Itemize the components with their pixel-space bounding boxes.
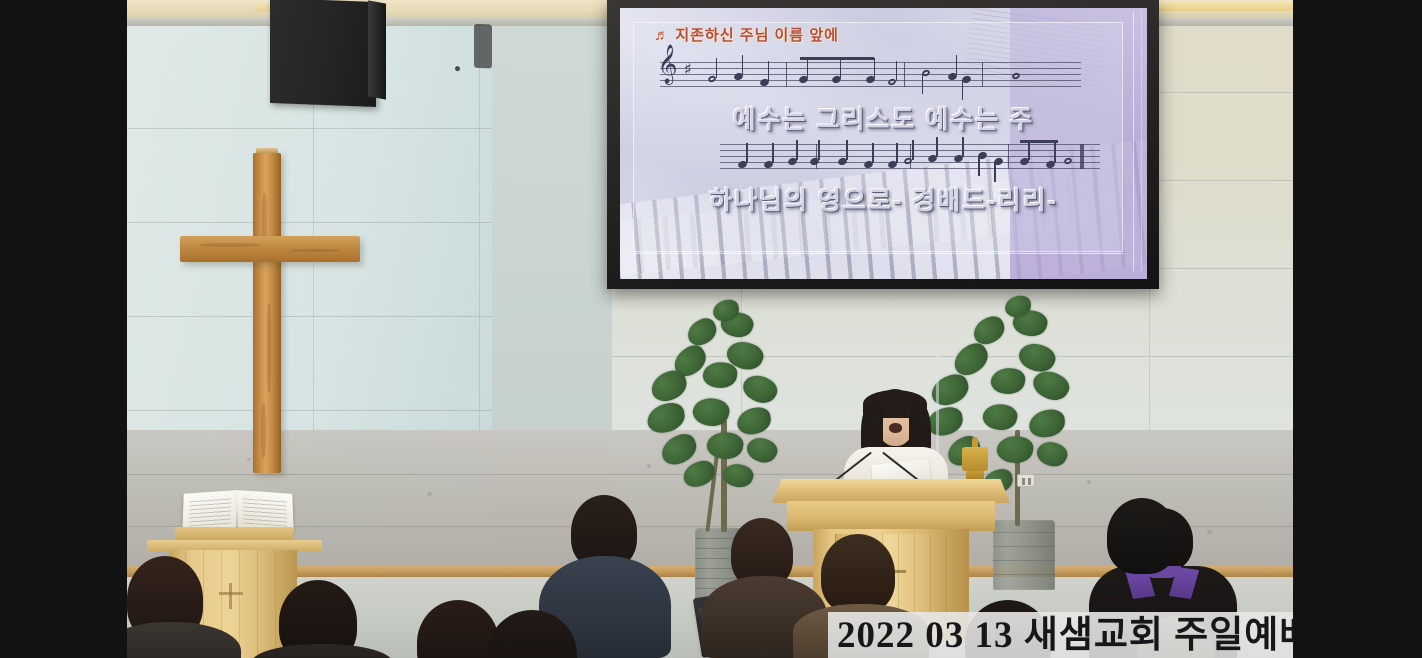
slide-rule-vertical — [1141, 11, 1142, 271]
presenter-mouth — [889, 423, 902, 433]
letterbox-left — [0, 0, 127, 658]
speaker-logo — [455, 66, 460, 71]
ceiling-speaker — [270, 0, 376, 107]
microphone-head-right — [919, 420, 927, 426]
letterbox-right — [1293, 0, 1422, 658]
congregant-head — [821, 534, 895, 614]
projection-screen[interactable]: ♬ 지존하신 주님 이름 앞에 𝄞 ♯ — [607, 0, 1159, 289]
pulpit-top — [772, 479, 1010, 503]
lamp-shade — [962, 447, 988, 471]
slide-song-title: ♬ 지존하신 주님 이름 앞에 — [654, 24, 839, 45]
congregant-head — [1107, 498, 1177, 574]
open-bible-left-page — [182, 490, 237, 532]
grout-line — [612, 356, 1293, 357]
lectern-ledge — [175, 527, 293, 541]
slide-rule — [633, 253, 1123, 254]
broadcast-caption: 2022 03 13 새샘교회 주일예배 — [828, 616, 1293, 656]
pulpit-brass-lamp — [960, 437, 990, 485]
slide-rule-vertical — [1133, 11, 1134, 271]
microphone-head-left — [871, 420, 879, 426]
music-staff-top: 𝄞 ♯ — [660, 62, 1082, 88]
slide-lyric-line-1: 예수는 그리스도 예수는 주 — [620, 100, 1147, 136]
planter-right — [993, 520, 1055, 590]
sermon-video-frame: ♬ 지존하신 주님 이름 앞에 𝄞 ♯ — [127, 0, 1293, 658]
pulpit-apron — [787, 501, 995, 531]
screen-surface: ♬ 지존하신 주님 이름 앞에 𝄞 ♯ — [620, 8, 1147, 279]
treble-clef-icon: 𝄞 — [658, 51, 678, 77]
lectern-cross-horizontal — [219, 592, 243, 595]
open-bible-right-page — [236, 490, 293, 532]
video-player-stage: ♬ 지존하신 주님 이름 앞에 𝄞 ♯ — [0, 0, 1422, 658]
wall-outlet — [1017, 474, 1035, 487]
slide-lyric-line-2: 하나님의 영으로- 경배드-리리- — [620, 181, 1147, 217]
ceiling-speaker-side — [368, 0, 386, 99]
lectern-cross-vertical — [229, 583, 232, 609]
cross-horizontal-beam — [180, 236, 360, 262]
sharp-sign-icon: ♯ — [684, 60, 692, 80]
grout-line — [127, 128, 492, 129]
wall-cross — [173, 148, 363, 473]
cross-vertical-beam — [253, 153, 281, 473]
music-staff-bottom — [720, 144, 1099, 170]
speaker-port — [474, 24, 492, 69]
